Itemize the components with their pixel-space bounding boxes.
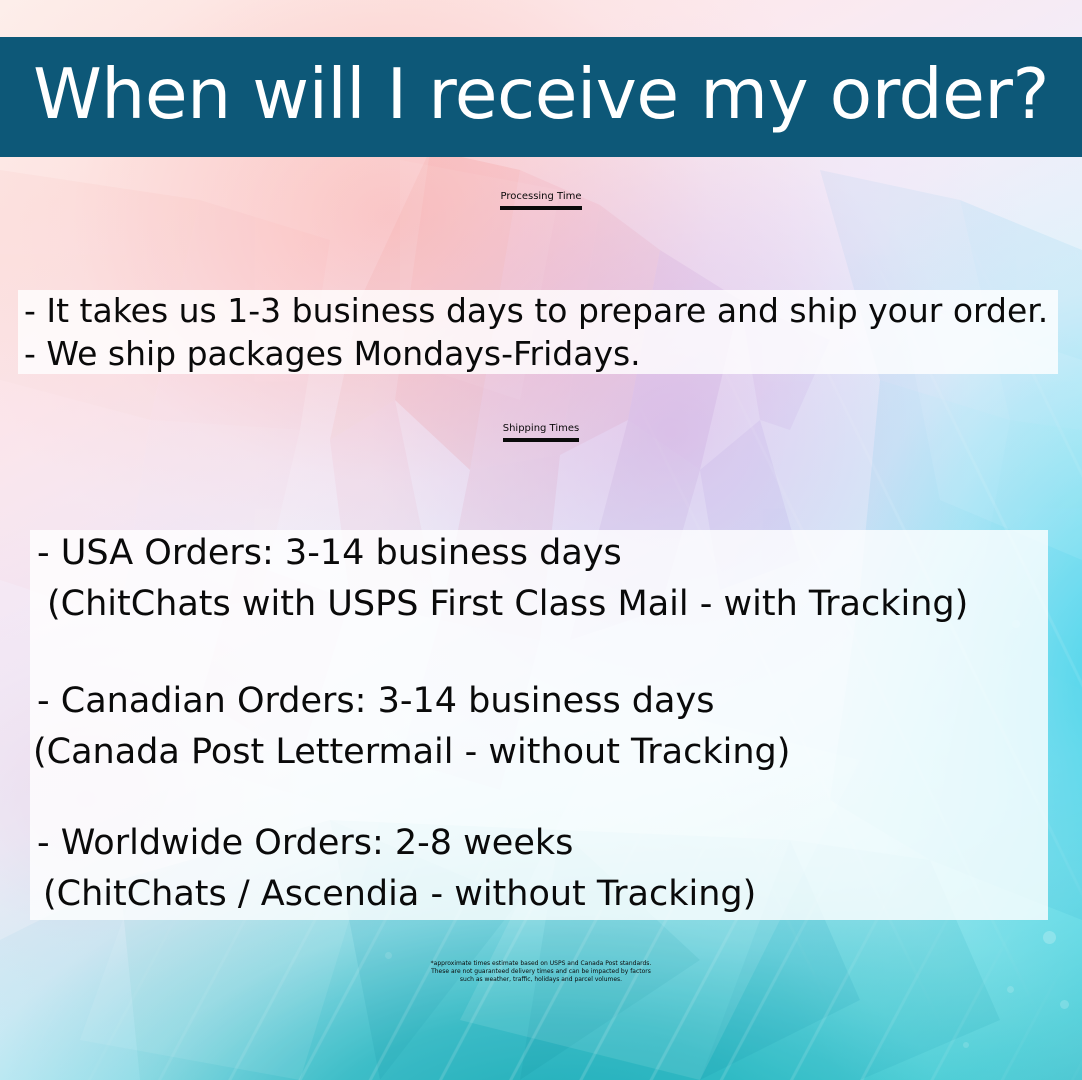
shipping-group-usa-main: - USA Orders: 3-14 business days [37,536,968,571]
shipping-group-canada: - Canadian Orders: 3-14 business days (C… [37,684,790,770]
shipping-group-usa-sub: (ChitChats with USPS First Class Mail - … [47,587,968,622]
shipping-group-canada-sub: (Canada Post Lettermail - without Tracki… [33,735,790,770]
footnote-line-2: These are not guaranteed delivery times … [0,968,1082,976]
section-heading-processing-time-text: Processing Time [500,192,581,210]
background-bokeh-dot [1060,1000,1069,1009]
shipping-group-canada-main: - Canadian Orders: 3-14 business days [37,684,790,719]
page-title: When will I receive my order? [33,60,1049,130]
footnote-line-1: *approximate times estimate based on USP… [0,960,1082,968]
processing-time-line-1: - It takes us 1-3 business days to prepa… [24,294,1048,327]
shipping-info-graphic: When will I receive my order? Processing… [0,0,1082,1080]
section-heading-processing-time: Processing Time [0,192,1082,210]
background-bokeh-dot [385,952,392,959]
shipping-group-usa: - USA Orders: 3-14 business days (ChitCh… [37,536,968,622]
shipping-group-worldwide-sub: (ChitChats / Ascendia - without Tracking… [43,877,756,912]
section-heading-shipping-times-text: Shipping Times [503,424,579,442]
footnote-line-3: such as weather, traffic, holidays and p… [0,976,1082,984]
background-bokeh-dot [1007,986,1014,993]
background-bokeh-dot [963,1042,969,1048]
footnote: *approximate times estimate based on USP… [0,960,1082,984]
background-bokeh-dot [1043,931,1056,944]
shipping-group-worldwide-main: - Worldwide Orders: 2-8 weeks [37,826,756,861]
header-band: When will I receive my order? [0,37,1082,157]
section-heading-shipping-times: Shipping Times [0,424,1082,442]
processing-time-line-2: - We ship packages Mondays-Fridays. [24,337,641,370]
shipping-group-worldwide: - Worldwide Orders: 2-8 weeks (ChitChats… [37,826,756,912]
